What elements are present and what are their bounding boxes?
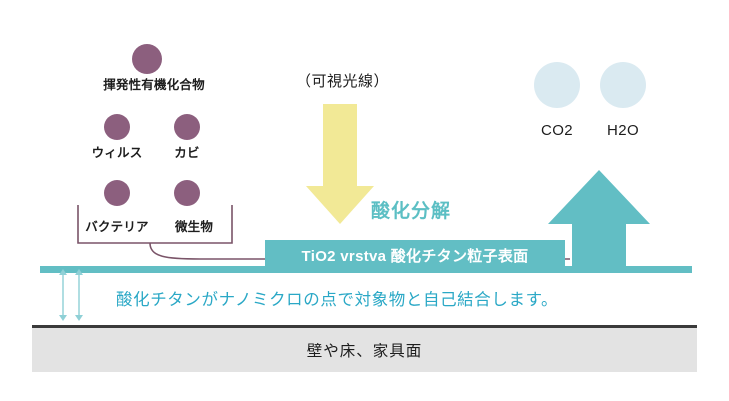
contaminant-dot-voc [132, 44, 162, 74]
visible-light-arrow-icon [300, 102, 382, 228]
base-surface-slab: 壁や床、家具面 [32, 325, 697, 372]
tio2-surface-line [40, 266, 692, 273]
molecule-label-h2o: H2O [594, 122, 652, 139]
contaminant-label-voc: 揮発性有機化合物 [88, 74, 220, 93]
visible-light-caption: （可視光線） [296, 70, 389, 91]
molecule-circle-h2o [600, 62, 646, 108]
molecule-circle-co2 [534, 62, 580, 108]
coating-thickness-arrows-icon [52, 268, 96, 322]
contaminant-dot-mold [174, 114, 200, 140]
diagram-canvas: 揮発性有機化合物 ウィルス カビ バクテリア 微生物 （可視光線） 酸化分解 C… [0, 0, 729, 401]
contaminant-label-virus: ウィルス [79, 142, 155, 161]
base-surface-label: 壁や床、家具面 [307, 339, 423, 361]
self-bonding-caption: 酸化チタンがナノミクロの点で対象物と自己結合します。 [116, 286, 558, 310]
molecule-label-co2: CO2 [528, 122, 586, 139]
oxidation-decomposition-label: 酸化分解 [371, 196, 451, 223]
tio2-layer-label: TiO2 vrstva 酸化チタン粒子表面 [302, 245, 529, 266]
contaminant-dot-virus [104, 114, 130, 140]
contaminant-label-mold: カビ [159, 142, 215, 161]
